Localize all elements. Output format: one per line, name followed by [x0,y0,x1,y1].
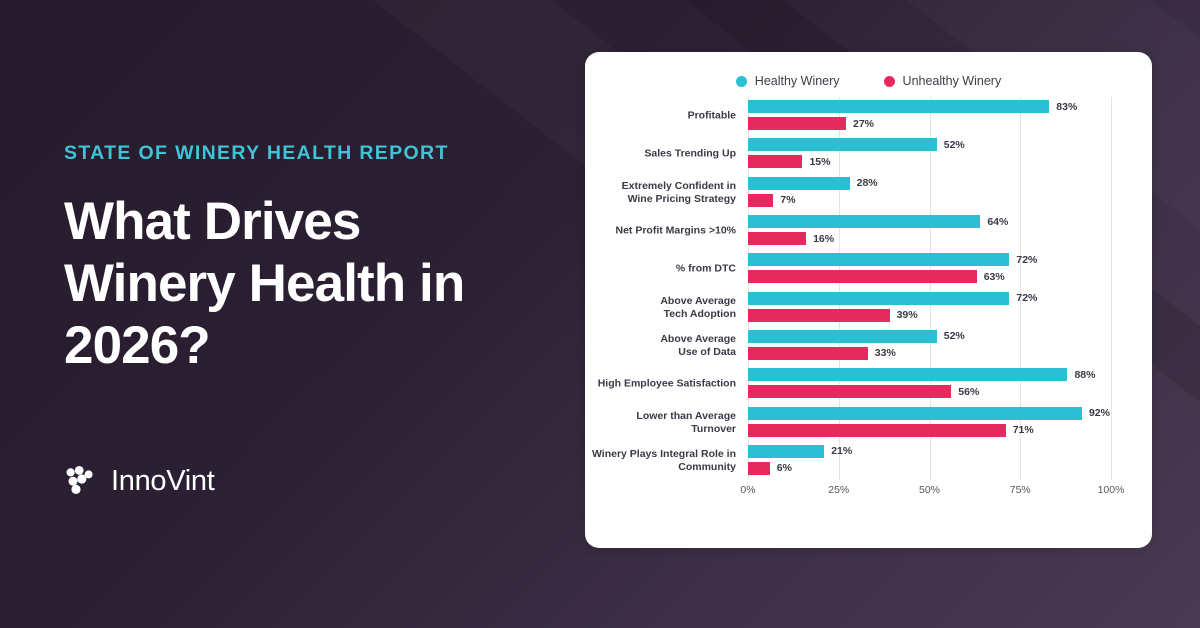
chart-row: Sales Trending Up52%15% [748,135,1111,173]
bar-value-label: 72% [1009,292,1037,304]
legend-item-healthy[interactable]: Healthy Winery [736,74,840,88]
bar-group-healthy: 72% [748,253,1111,266]
x-tick-label: 0% [740,484,755,496]
bar-healthy[interactable] [748,407,1082,420]
bar-healthy[interactable] [748,292,1009,305]
bar-unhealthy[interactable] [748,194,773,207]
bar-value-label: 52% [937,139,965,151]
bar-unhealthy[interactable] [748,385,951,398]
bar-unhealthy[interactable] [748,309,890,322]
bar-value-label: 63% [977,271,1005,283]
bar-group-healthy: 88% [748,368,1111,381]
legend-item-unhealthy[interactable]: Unhealthy Winery [884,74,1002,88]
bar-value-label: 83% [1049,101,1077,113]
bar-group-healthy: 21% [748,445,1111,458]
bar-value-label: 72% [1009,254,1037,266]
bar-value-label: 52% [937,330,965,342]
chart-row: Profitable83%27% [748,97,1111,135]
chart-row: Winery Plays Integral Role in Community2… [748,442,1111,480]
bar-group-healthy: 83% [748,100,1111,113]
bar-group-unhealthy: 63% [748,270,1111,283]
category-label: Sales Trending Up [585,148,736,161]
bar-value-label: 33% [868,347,896,359]
bar-unhealthy[interactable] [748,424,1006,437]
grape-cluster-icon [64,464,98,498]
chart-row: Net Profit Margins >10%64%16% [748,212,1111,250]
chart-row: High Employee Satisfaction88%56% [748,365,1111,403]
category-label: Net Profit Margins >10% [585,224,736,237]
bar-healthy[interactable] [748,177,850,190]
bar-group-healthy: 64% [748,215,1111,228]
bar-value-label: 27% [846,118,874,130]
bar-value-label: 21% [824,445,852,457]
bar-unhealthy[interactable] [748,462,770,475]
bar-unhealthy[interactable] [748,270,977,283]
chart-row: Extremely Confident in Wine Pricing Stra… [748,174,1111,212]
bar-unhealthy[interactable] [748,155,802,168]
chart-row: Lower than Average Turnover92%71% [748,404,1111,442]
hero-panel: STATE OF WINERY HEALTH REPORT What Drive… [64,0,564,628]
bar-unhealthy[interactable] [748,347,868,360]
bar-group-healthy: 28% [748,177,1111,190]
bar-group-unhealthy: 71% [748,424,1111,437]
bar-group-unhealthy: 7% [748,194,1111,207]
chart-legend: Healthy Winery Unhealthy Winery [585,74,1152,88]
category-label: % from DTC [585,263,736,276]
legend-swatch-unhealthy [884,76,895,87]
bar-group-unhealthy: 6% [748,462,1111,475]
brand-logo: InnoVint [64,464,215,498]
report-eyebrow: STATE OF WINERY HEALTH REPORT [64,142,564,165]
chart-row: Above Average Tech Adoption72%39% [748,289,1111,327]
category-label: Above Average Tech Adoption [585,295,736,321]
bar-group-healthy: 52% [748,330,1111,343]
gridline-100 [1111,97,1112,480]
bar-value-label: 88% [1067,369,1095,381]
bar-unhealthy[interactable] [748,232,806,245]
category-label: Lower than Average Turnover [585,409,736,435]
bar-group-unhealthy: 33% [748,347,1111,360]
legend-label-healthy: Healthy Winery [755,74,840,88]
bar-value-label: 56% [951,386,979,398]
bar-group-healthy: 52% [748,138,1111,151]
bar-group-healthy: 72% [748,292,1111,305]
bar-healthy[interactable] [748,253,1009,266]
legend-swatch-healthy [736,76,747,87]
chart-rows: Profitable83%27%Sales Trending Up52%15%E… [748,97,1111,480]
bar-value-label: 92% [1082,407,1110,419]
x-tick-label: 100% [1098,484,1125,496]
page-title: What Drives Winery Health in 2026? [64,191,494,377]
chart-row: % from DTC72%63% [748,250,1111,288]
bar-group-healthy: 92% [748,407,1111,420]
bar-healthy[interactable] [748,330,937,343]
category-label: Profitable [585,110,736,123]
bar-value-label: 39% [890,309,918,321]
category-label: Winery Plays Integral Role in Community [585,448,736,474]
bar-healthy[interactable] [748,215,980,228]
bar-value-label: 28% [850,177,878,189]
bar-healthy[interactable] [748,368,1067,381]
bar-unhealthy[interactable] [748,117,846,130]
x-tick-label: 25% [828,484,849,496]
legend-label-unhealthy: Unhealthy Winery [903,74,1002,88]
bar-healthy[interactable] [748,138,937,151]
bar-group-unhealthy: 27% [748,117,1111,130]
bar-group-unhealthy: 56% [748,385,1111,398]
bar-healthy[interactable] [748,445,824,458]
bar-value-label: 7% [773,194,795,206]
chart-plot-area: Profitable83%27%Sales Trending Up52%15%E… [748,97,1111,522]
chart-x-axis: 0%25%50%75%100% [748,484,1111,504]
bar-value-label: 6% [770,462,792,474]
bar-value-label: 16% [806,233,834,245]
bar-value-label: 71% [1006,424,1034,436]
x-tick-label: 75% [1010,484,1031,496]
chart-row: Above Average Use of Data52%33% [748,327,1111,365]
bar-group-unhealthy: 15% [748,155,1111,168]
bar-value-label: 64% [980,216,1008,228]
category-label: High Employee Satisfaction [585,378,736,391]
bar-value-label: 15% [802,156,830,168]
x-tick-label: 50% [919,484,940,496]
brand-wordmark: InnoVint [111,465,215,498]
bar-healthy[interactable] [748,100,1049,113]
category-label: Extremely Confident in Wine Pricing Stra… [585,180,736,206]
bar-group-unhealthy: 16% [748,232,1111,245]
chart-card: Healthy Winery Unhealthy Winery Profitab… [585,52,1152,548]
bar-group-unhealthy: 39% [748,309,1111,322]
category-label: Above Average Use of Data [585,333,736,359]
